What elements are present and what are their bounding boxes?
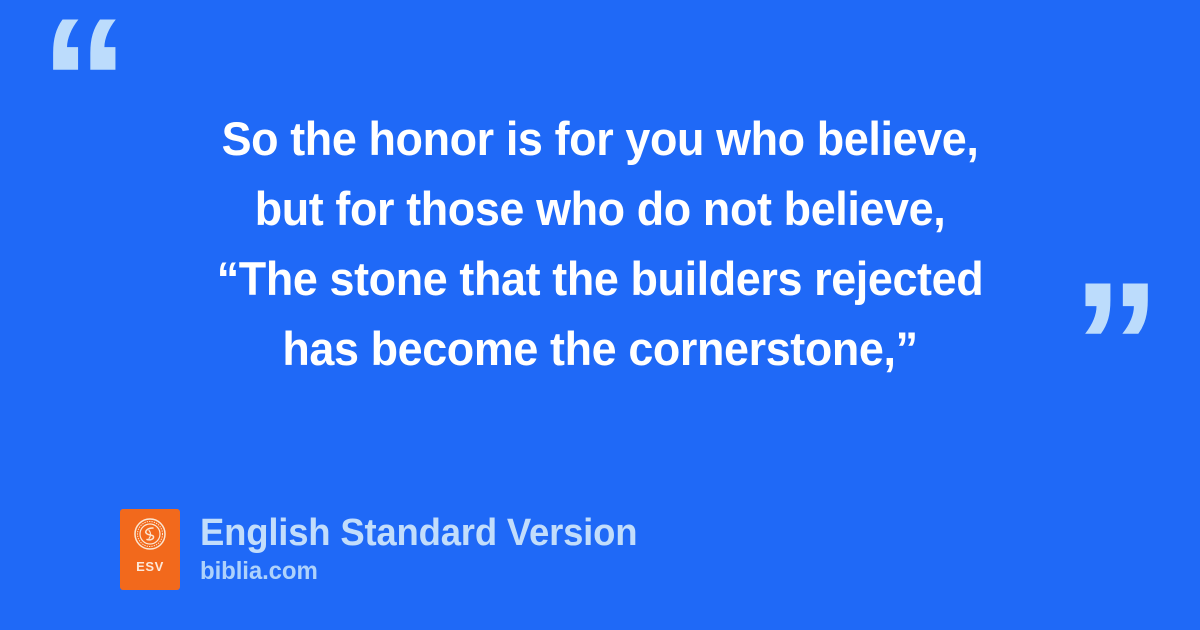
quote-line: “The stone that the builders rejected bbox=[27, 244, 1173, 314]
quote-image-canvas: “ ” So the honor is for you who believe,… bbox=[0, 0, 1200, 630]
scripture-quote-text: So the honor is for you who believe, but… bbox=[0, 104, 1200, 384]
bible-version-name: English Standard Version bbox=[200, 510, 637, 556]
attribution-footer: ESV English Standard Version biblia.com bbox=[120, 509, 656, 590]
esv-seal-emblem-icon bbox=[134, 518, 166, 550]
quote-line: but for those who do not believe, bbox=[27, 174, 1173, 244]
attribution-text-group: English Standard Version biblia.com bbox=[200, 509, 656, 586]
esv-logo-abbreviation: ESV bbox=[120, 559, 180, 574]
quote-line: So the honor is for you who believe, bbox=[27, 104, 1173, 174]
quote-line: has become the cornerstone,” bbox=[27, 314, 1173, 384]
esv-logo: ESV bbox=[120, 509, 180, 590]
site-url-label: biblia.com bbox=[200, 556, 637, 586]
